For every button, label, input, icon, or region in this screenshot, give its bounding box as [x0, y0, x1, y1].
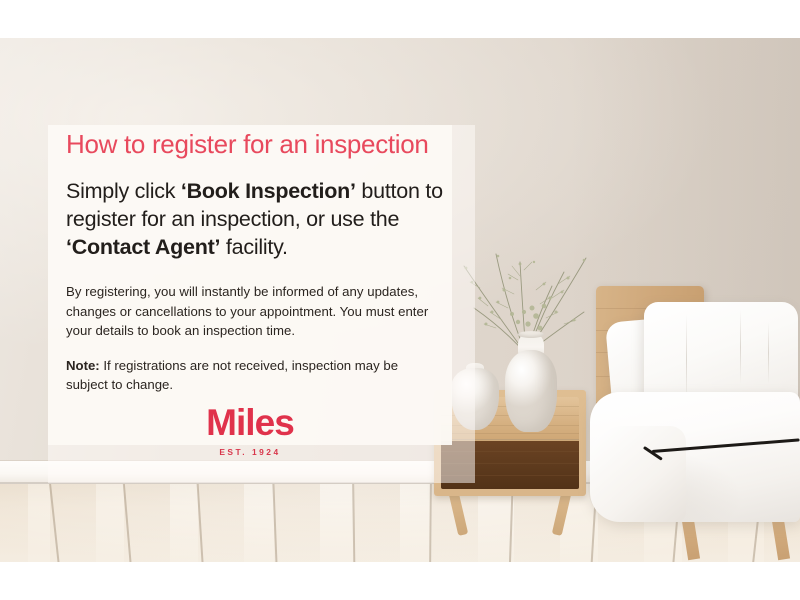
- duvet-fold: [590, 426, 686, 522]
- note-label: Note:: [66, 358, 100, 373]
- lede-book-inspection: ‘Book Inspection’: [181, 179, 356, 203]
- lede-line3-post: facility.: [220, 235, 288, 259]
- card-note: Note: If registrations are not received,…: [66, 356, 440, 395]
- card-body-copy: By registering, you will instantly be in…: [66, 282, 440, 340]
- bed: [584, 286, 800, 562]
- card-headline: How to register for an inspection: [66, 129, 446, 160]
- card-lede: Simply click ‘Book Inspection’ button to…: [66, 178, 446, 262]
- logo-established: EST. 1924: [48, 448, 452, 456]
- lede-contact-agent: ‘Contact Agent’: [66, 235, 220, 259]
- vase-tall-rim: [518, 331, 544, 338]
- scene-photo: How to register for an inspection Simply…: [0, 38, 800, 562]
- lede-line1-post: button: [356, 179, 420, 203]
- note-text: If registrations are not received, inspe…: [66, 358, 398, 392]
- logo-wordmark: Miles: [48, 404, 452, 441]
- brand-logo: Miles EST. 1924: [48, 404, 452, 456]
- nightstand-shelf: [441, 441, 579, 489]
- vase-small: [451, 368, 499, 430]
- vase-tall: [505, 350, 557, 432]
- lede-line1-pre: Simply click: [66, 179, 181, 203]
- info-card: How to register for an inspection Simply…: [48, 125, 452, 445]
